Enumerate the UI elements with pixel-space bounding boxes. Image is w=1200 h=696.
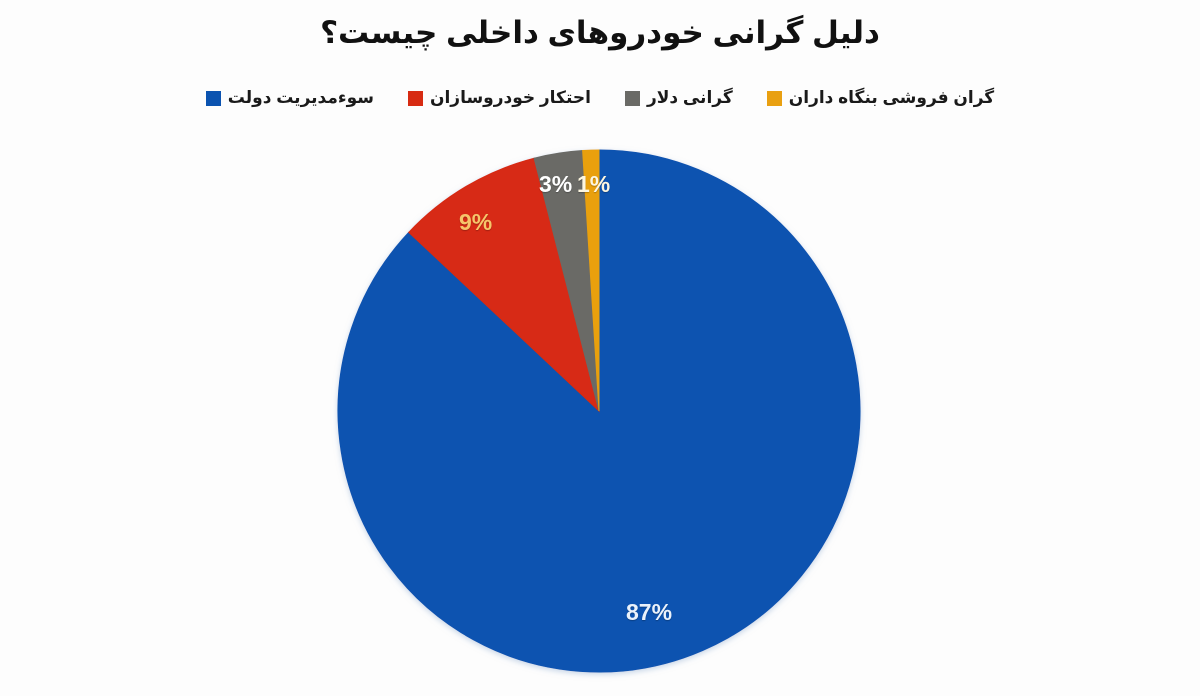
legend-label-dollar: گرانی دلار <box>647 88 733 108</box>
legend-item-bongah[interactable]: گران فروشی بنگاه داران <box>767 88 994 108</box>
pie-graphic: 87% 9% 3% 1% <box>337 149 861 673</box>
pie-slices <box>338 150 860 672</box>
legend-label-dolat: سوءمدیریت دولت <box>228 88 374 108</box>
legend-swatch-gray-icon <box>625 91 640 106</box>
pie-svg <box>337 149 861 673</box>
pie-chart-figure: دلیل گرانی خودروهای داخلی چیست؟ سوءمدیری… <box>0 0 1200 696</box>
legend-item-ehtekar[interactable]: احتکار خودروسازان <box>408 88 591 108</box>
legend-label-bongah: گران فروشی بنگاه داران <box>789 88 994 108</box>
chart-title: دلیل گرانی خودروهای داخلی چیست؟ <box>0 14 1200 53</box>
chart-legend: سوءمدیریت دولت احتکار خودروسازان گرانی د… <box>0 88 1200 108</box>
legend-item-dolat[interactable]: سوءمدیریت دولت <box>206 88 374 108</box>
legend-item-dollar[interactable]: گرانی دلار <box>625 88 733 108</box>
legend-swatch-gold-icon <box>767 91 782 106</box>
legend-swatch-red-icon <box>408 91 423 106</box>
legend-label-ehtekar: احتکار خودروسازان <box>430 88 591 108</box>
legend-swatch-blue-icon <box>206 91 221 106</box>
